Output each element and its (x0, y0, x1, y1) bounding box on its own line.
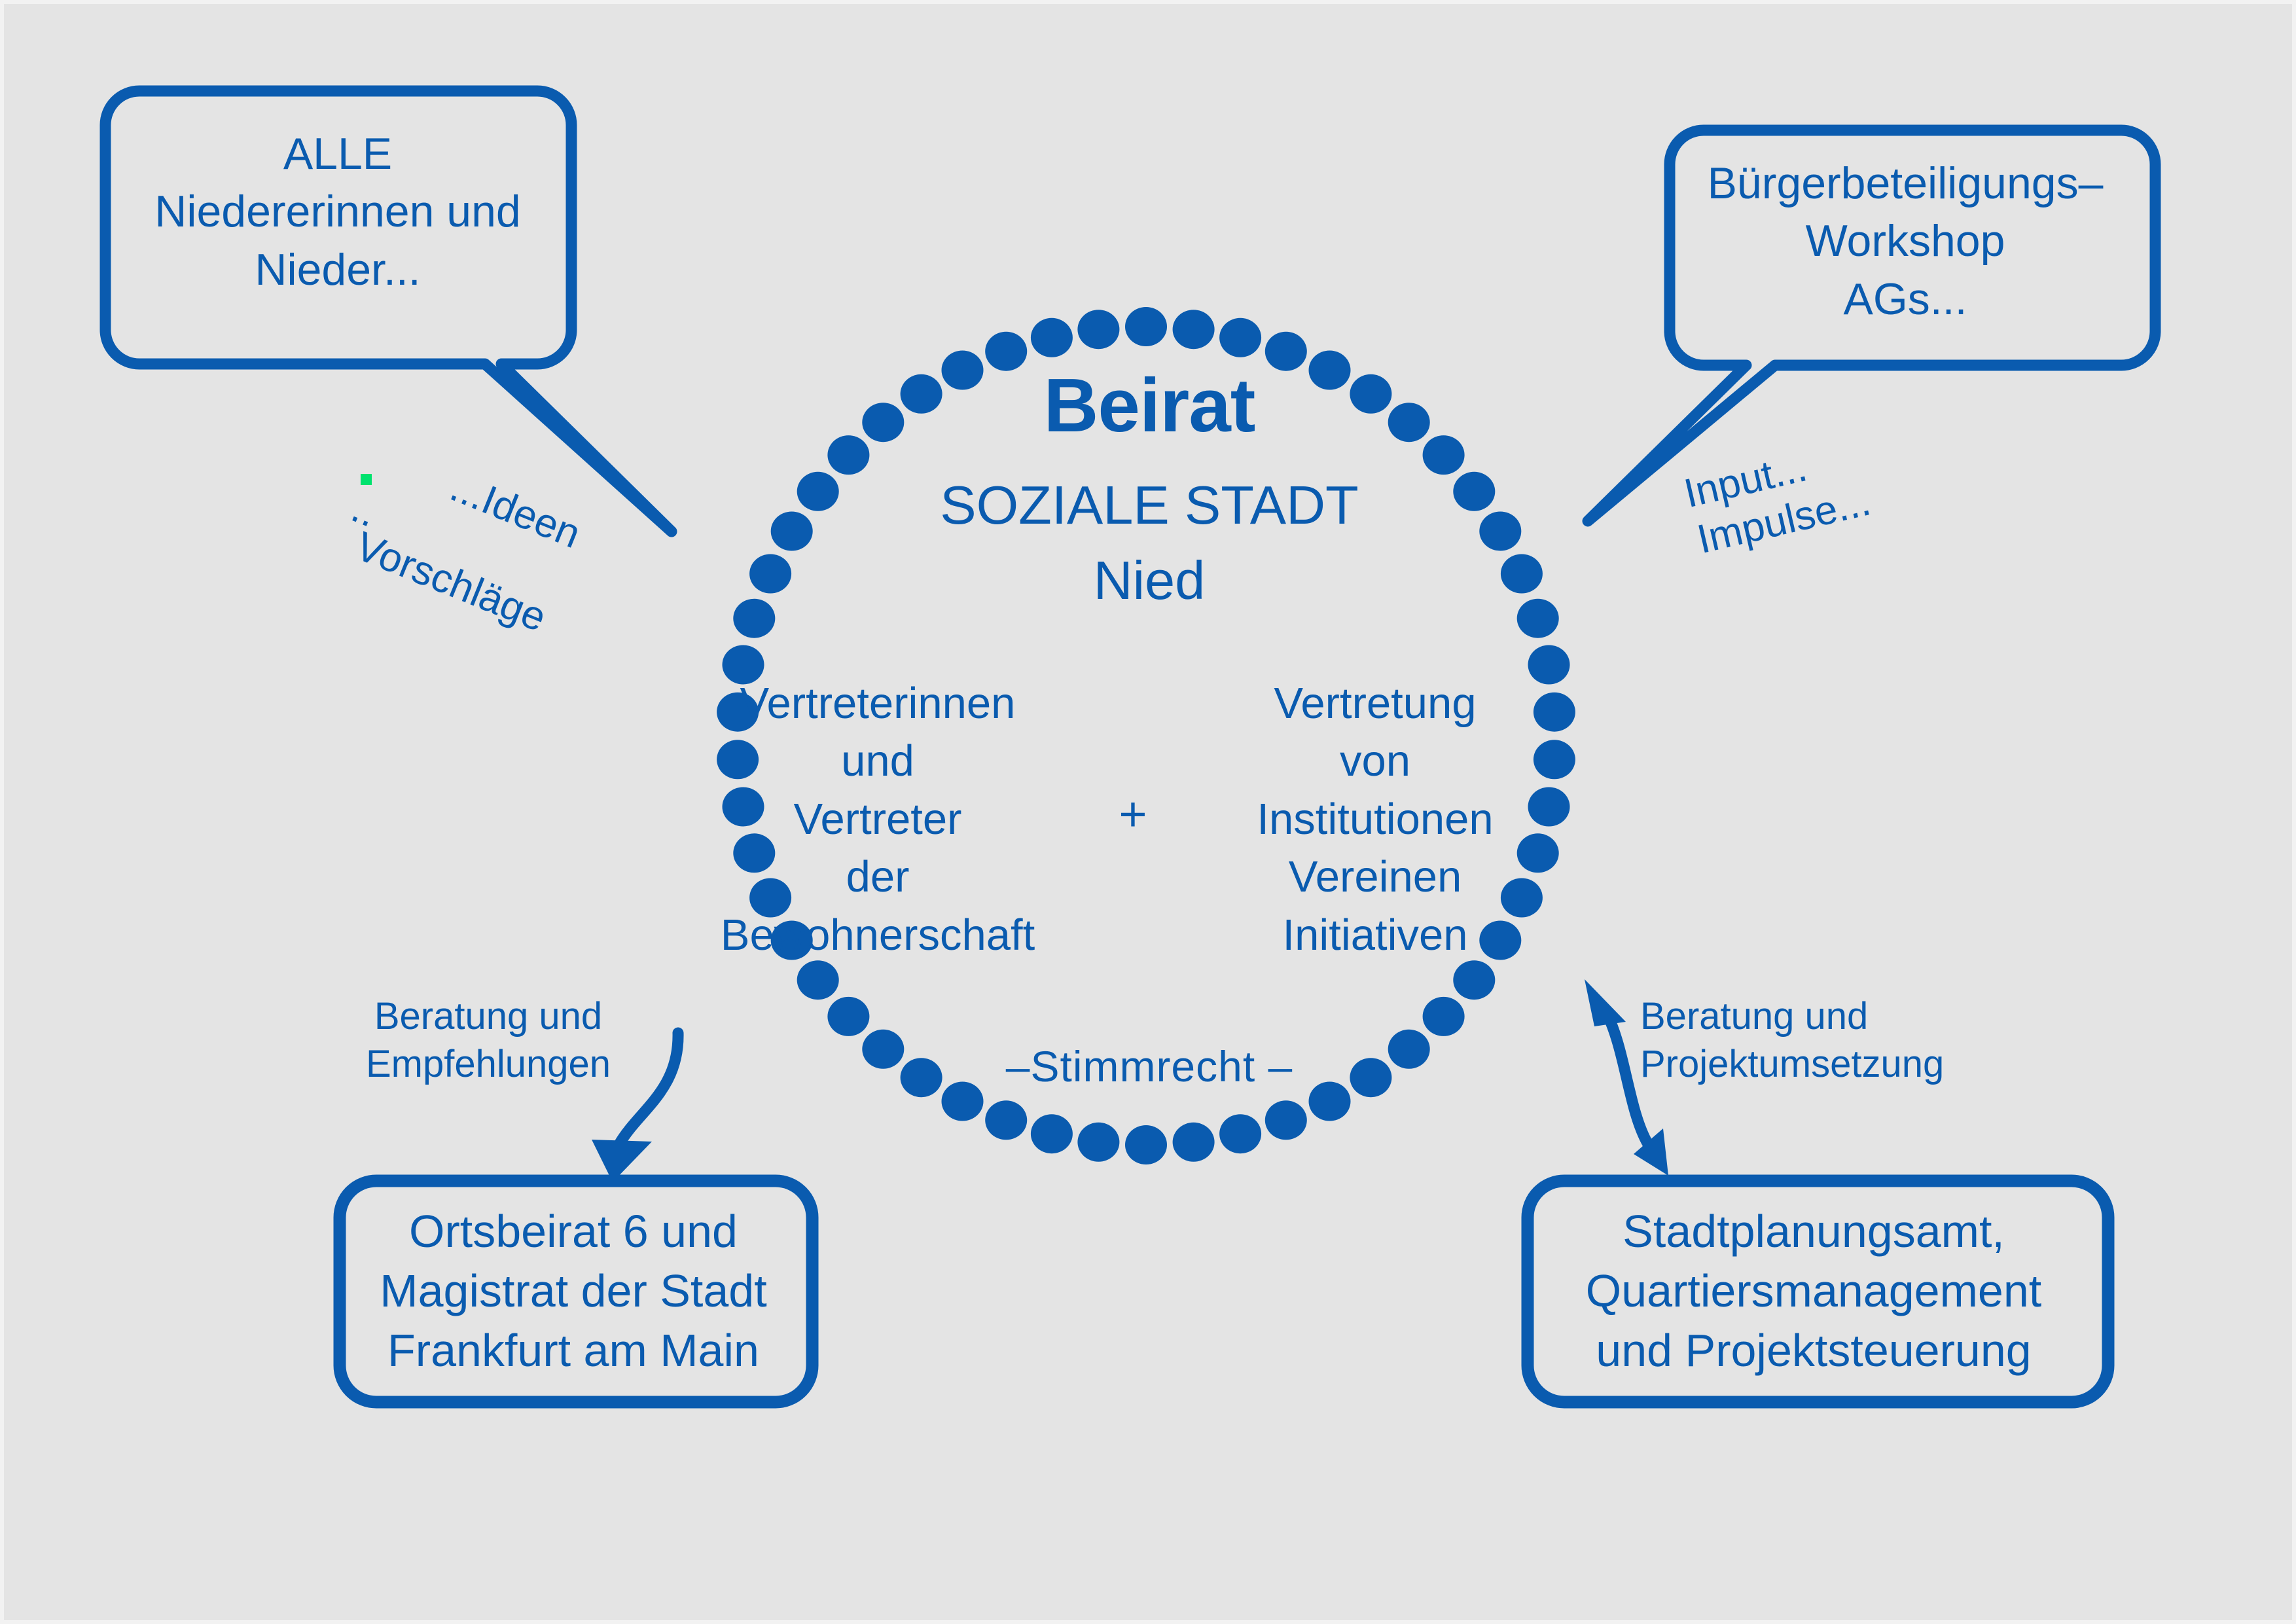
center-column-right: Vertretung von Institutionen Vereinen In… (1218, 675, 1532, 964)
center-title: Beirat (796, 367, 1503, 443)
green-marker-square (361, 474, 372, 485)
circle-dot (1031, 318, 1073, 357)
circle-dot (1517, 599, 1559, 638)
box-bottom-left-label: Ortsbeirat 6 und Magistrat der Stadt Fra… (344, 1202, 802, 1380)
label-beratung-empfehlungen: Beratung und Empfehlungen (344, 992, 632, 1088)
label-beratung-projektumsetzung: Beratung und Projektumsetzung (1640, 992, 1981, 1088)
circle-dot (1173, 310, 1215, 349)
circle-dot (1125, 307, 1167, 346)
center-plus-operator: + (1087, 786, 1179, 842)
circle-dot (862, 1030, 904, 1069)
center-subtitle-line-1: SOZIALE STADT (796, 475, 1503, 535)
circle-dot (1423, 997, 1465, 1036)
circle-dot (1528, 787, 1570, 827)
circle-dot (797, 960, 839, 1000)
circle-dot (1173, 1123, 1215, 1162)
circle-dot (1219, 1114, 1261, 1153)
circle-dot (1534, 740, 1575, 779)
circle-dot (1077, 310, 1119, 349)
circle-dot (1528, 645, 1570, 685)
circle-dot (1265, 1100, 1307, 1140)
circle-dot (1219, 318, 1261, 357)
center-column-left: Vertreterinnen und Vertreter der Bewohne… (694, 675, 1061, 964)
speech-bubble-top-left-label: ALLE Niedererinnen und Nieder... (102, 125, 573, 298)
circle-dot (1501, 554, 1543, 594)
speech-bubble-top-right-label: Bürgerbeteiligungs– Workshop AGs... (1676, 154, 2134, 328)
circle-dot (985, 332, 1027, 371)
center-footer-stimmrecht: –Stimmrecht – (920, 1041, 1378, 1091)
circle-dot (827, 997, 869, 1036)
circle-dot (1077, 1123, 1119, 1162)
diagram-canvas: ALLE Niedererinnen und Nieder... Bürgerb… (0, 0, 2296, 1624)
circle-dot (1388, 1030, 1430, 1069)
annotation-ideen: ...Ideen (443, 462, 588, 560)
circle-dot (1265, 332, 1307, 371)
circle-dot (1534, 693, 1575, 732)
center-subtitle-line-2: Nied (796, 550, 1503, 610)
circle-dot (733, 599, 775, 638)
circle-dot (1031, 1114, 1073, 1153)
circle-dot (1125, 1125, 1167, 1164)
circle-dot (985, 1100, 1027, 1140)
circle-dot (749, 554, 791, 594)
box-bottom-right-label: Stadtplanungsamt, Quartiersmanagement un… (1529, 1202, 2098, 1380)
circle-dot (1453, 960, 1495, 1000)
